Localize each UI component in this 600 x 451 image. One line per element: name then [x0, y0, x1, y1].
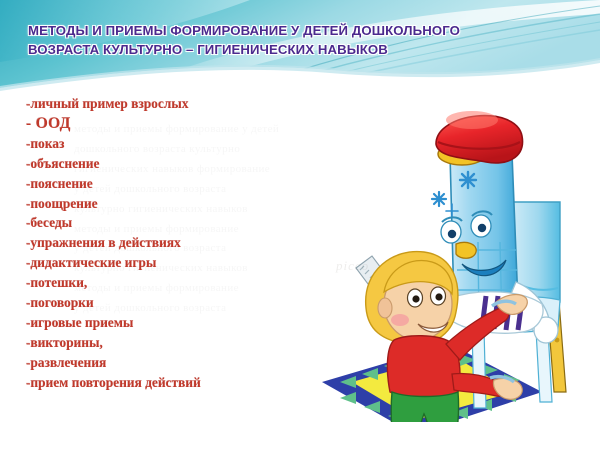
- list-item: -показ: [26, 134, 326, 154]
- cap-highlight: [446, 111, 498, 129]
- list-item: -прием повторения действий: [26, 373, 326, 393]
- methods-list: -личный пример взрослых - ООД -показ -об…: [26, 94, 326, 393]
- illustration-graphic: [310, 92, 600, 422]
- ear: [378, 298, 392, 318]
- nose: [456, 242, 476, 258]
- snowflake-icon: [432, 192, 446, 206]
- pupil-left: [412, 295, 419, 302]
- list-item: -поощрение: [26, 194, 326, 214]
- pupil-left: [448, 230, 456, 238]
- list-item: - ООД: [26, 114, 326, 134]
- list-item: -упражнения в действиях: [26, 233, 326, 253]
- page-title: МЕТОДЫ И ПРИЕМЫ ФОРМИРОВАНИЕ У ДЕТЕЙ ДОШ…: [28, 21, 488, 59]
- presentation-slide: МЕТОДЫ И ПРИЕМЫ ФОРМИРОВАНИЕ У ДЕТЕЙ ДОШ…: [0, 0, 600, 451]
- list-item: -личный пример взрослых: [26, 94, 326, 114]
- title-line-1: МЕТОДЫ И ПРИЕМЫ ФОРМИРОВАНИЕ У ДЕТЕЙ ДОШ…: [28, 21, 488, 40]
- cheek-blush: [391, 314, 409, 326]
- list-item: -беседы: [26, 213, 326, 233]
- pupil-right: [478, 224, 486, 232]
- list-item: -викторины,: [26, 333, 326, 353]
- list-item: -игровые приемы: [26, 313, 326, 333]
- pants: [391, 392, 458, 422]
- list-item: -пояснение: [26, 174, 326, 194]
- list-item: -потешки,: [26, 273, 326, 293]
- list-item: -объяснение: [26, 154, 326, 174]
- list-item: -развлечения: [26, 353, 326, 373]
- illustration-toothpaste-and-child: [310, 92, 600, 422]
- title-line-2: ВОЗРАСТА КУЛЬТУРНО – ГИГИЕНИЧЕСКИХ НАВЫК…: [28, 40, 488, 59]
- list-item: -поговорки: [26, 293, 326, 313]
- list-item: -дидактические игры: [26, 253, 326, 273]
- snowflake-icon: [460, 172, 476, 188]
- pupil-right: [435, 293, 442, 300]
